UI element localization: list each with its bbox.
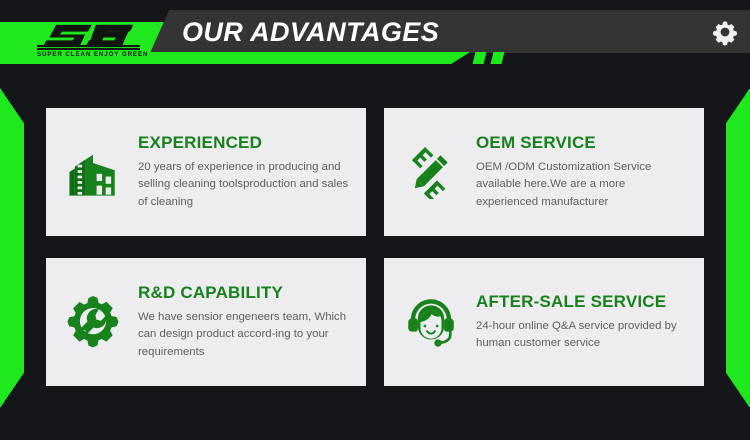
card-description: OEM /ODM Customization Service available… <box>476 159 690 212</box>
card-title: EXPERIENCED <box>138 133 352 153</box>
card-body: AFTER-SALE SERVICE 24-hour online Q&A se… <box>476 292 690 353</box>
card-body: R&D CAPABILITY We have sensior engeneers… <box>138 283 352 362</box>
page-title: OUR ADVANTAGES <box>182 14 439 50</box>
gear-icon <box>709 16 741 48</box>
building-icon <box>62 141 124 203</box>
card-description: 20 years of experience in producing and … <box>138 159 352 212</box>
headset-support-icon <box>400 291 462 353</box>
pencil-ruler-icon <box>400 141 462 203</box>
card-title: OEM SERVICE <box>476 133 690 153</box>
logo-rule-lines <box>37 45 140 49</box>
card-body: OEM SERVICE OEM /ODM Customization Servi… <box>476 133 690 212</box>
left-green-accent <box>0 88 24 408</box>
card-title: AFTER-SALE SERVICE <box>476 292 690 312</box>
advantage-card-oem-service[interactable]: OEM SERVICE OEM /ODM Customization Servi… <box>384 108 704 236</box>
card-description: 24-hour online Q&A service provided by h… <box>476 318 690 353</box>
advantage-card-grid: EXPERIENCED 20 years of experience in pr… <box>46 108 704 386</box>
header-accent-slash-2 <box>491 52 505 64</box>
card-title: R&D CAPABILITY <box>138 283 352 303</box>
card-body: EXPERIENCED 20 years of experience in pr… <box>138 133 352 212</box>
sps-logo[interactable]: ® SUPER CLEAN ENJOY GREEN <box>33 22 143 62</box>
right-green-accent <box>726 88 750 408</box>
settings-button[interactable] <box>709 16 741 48</box>
advantage-card-experienced[interactable]: EXPERIENCED 20 years of experience in pr… <box>46 108 366 236</box>
advantages-banner: ® SUPER CLEAN ENJOY GREEN <box>0 0 750 440</box>
gear-wrench-icon <box>62 291 124 353</box>
registered-trademark-mark: ® <box>127 25 132 32</box>
header-accent-slash-1 <box>473 52 487 64</box>
advantage-card-after-sale-service[interactable]: AFTER-SALE SERVICE 24-hour online Q&A se… <box>384 258 704 386</box>
logo-tagline: SUPER CLEAN ENJOY GREEN <box>37 51 141 58</box>
advantage-card-rd-capability[interactable]: R&D CAPABILITY We have sensior engeneers… <box>46 258 366 386</box>
card-description: We have sensior engeneers team, Which ca… <box>138 309 352 362</box>
